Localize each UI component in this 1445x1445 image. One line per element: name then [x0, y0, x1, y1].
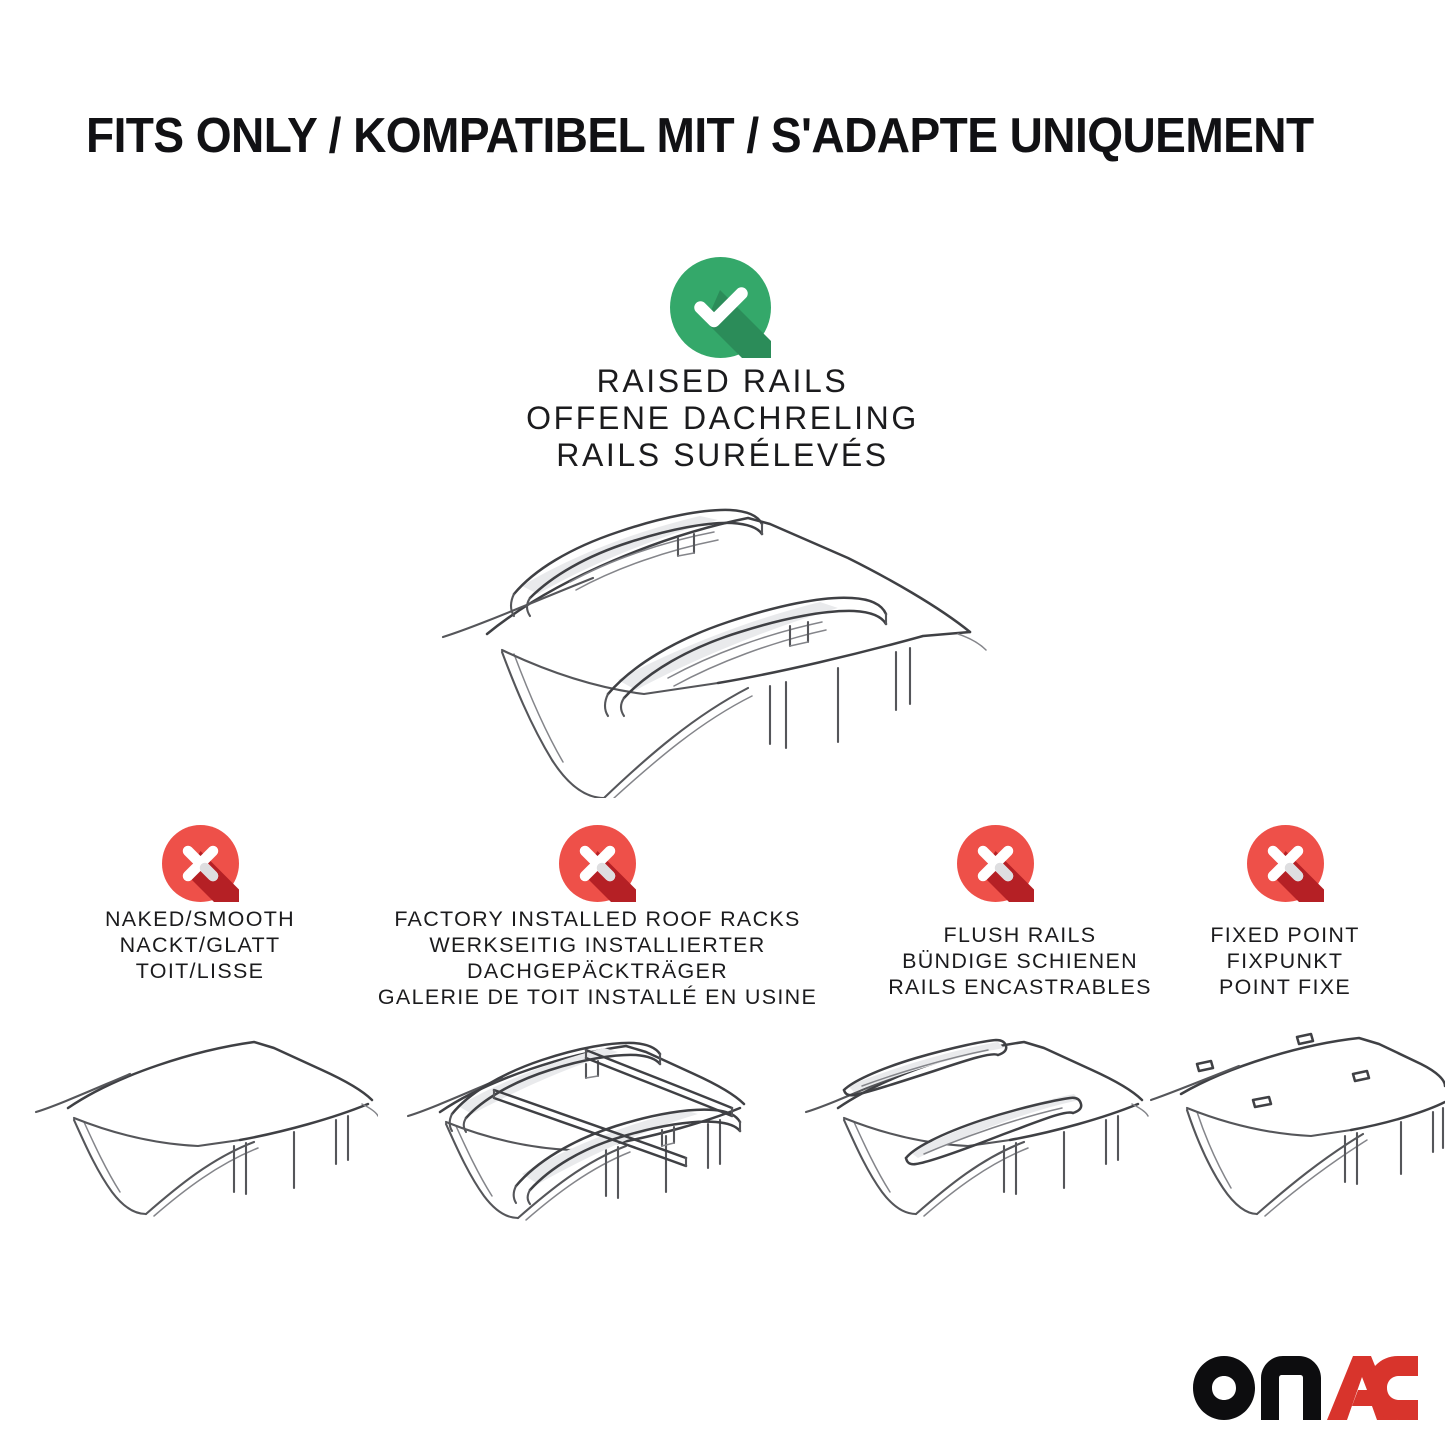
car-roof-with-factory-crossbars-illustration — [396, 1014, 756, 1258]
label-line-1: NAKED/SMOOTH — [20, 906, 380, 932]
car-roof-with-raised-rails-illustration — [418, 498, 993, 798]
label-line-1: FIXED POINT — [1125, 922, 1445, 948]
incompatible-label-naked-smooth: NAKED/SMOOTH NACKT/GLATT TOIT/LISSE — [20, 906, 380, 984]
car-roof-with-fixed-points-illustration — [1145, 1024, 1445, 1254]
car-roof-with-flush-rails-illustration — [792, 1024, 1152, 1254]
omac-logo — [1193, 1356, 1418, 1420]
red-x-circle-icon — [162, 825, 239, 902]
label-line-1: FACTORY INSTALLED ROOF RACKS — [370, 906, 825, 932]
label-line-4: GALERIE DE TOIT INSTALLÉ EN USINE — [370, 984, 825, 1010]
label-line-3: TOIT/LISSE — [20, 958, 380, 984]
incompatible-label-factory-racks: FACTORY INSTALLED ROOF RACKS WERKSEITIG … — [370, 906, 825, 1010]
label-line-2: FIXPUNKT — [1125, 948, 1445, 974]
compatible-label-line-2: OFFENE DACHRELING — [0, 400, 1445, 437]
label-line-2: NACKT/GLATT — [20, 932, 380, 958]
green-check-circle-icon — [670, 257, 771, 358]
red-x-circle-icon — [1247, 825, 1324, 902]
car-roof-bare-illustration — [22, 1024, 378, 1254]
red-x-circle-icon — [559, 825, 636, 902]
label-line-3: DACHGEPÄCKTRÄGER — [370, 958, 825, 984]
incompatible-label-fixed-point: FIXED POINT FIXPUNKT POINT FIXE — [1125, 922, 1445, 1000]
compatible-label: RAISED RAILS OFFENE DACHRELING RAILS SUR… — [0, 363, 1445, 474]
label-line-3: POINT FIXE — [1125, 974, 1445, 1000]
compatible-label-line-3: RAILS SURÉLEVÉS — [0, 437, 1445, 474]
infographic-canvas: FITS ONLY / KOMPATIBEL MIT / S'ADAPTE UN… — [0, 0, 1445, 1445]
compatible-label-line-1: RAISED RAILS — [0, 363, 1445, 400]
red-x-circle-icon — [957, 825, 1034, 902]
label-line-2: WERKSEITIG INSTALLIERTER — [370, 932, 825, 958]
page-title: FITS ONLY / KOMPATIBEL MIT / S'ADAPTE UN… — [86, 108, 1314, 164]
